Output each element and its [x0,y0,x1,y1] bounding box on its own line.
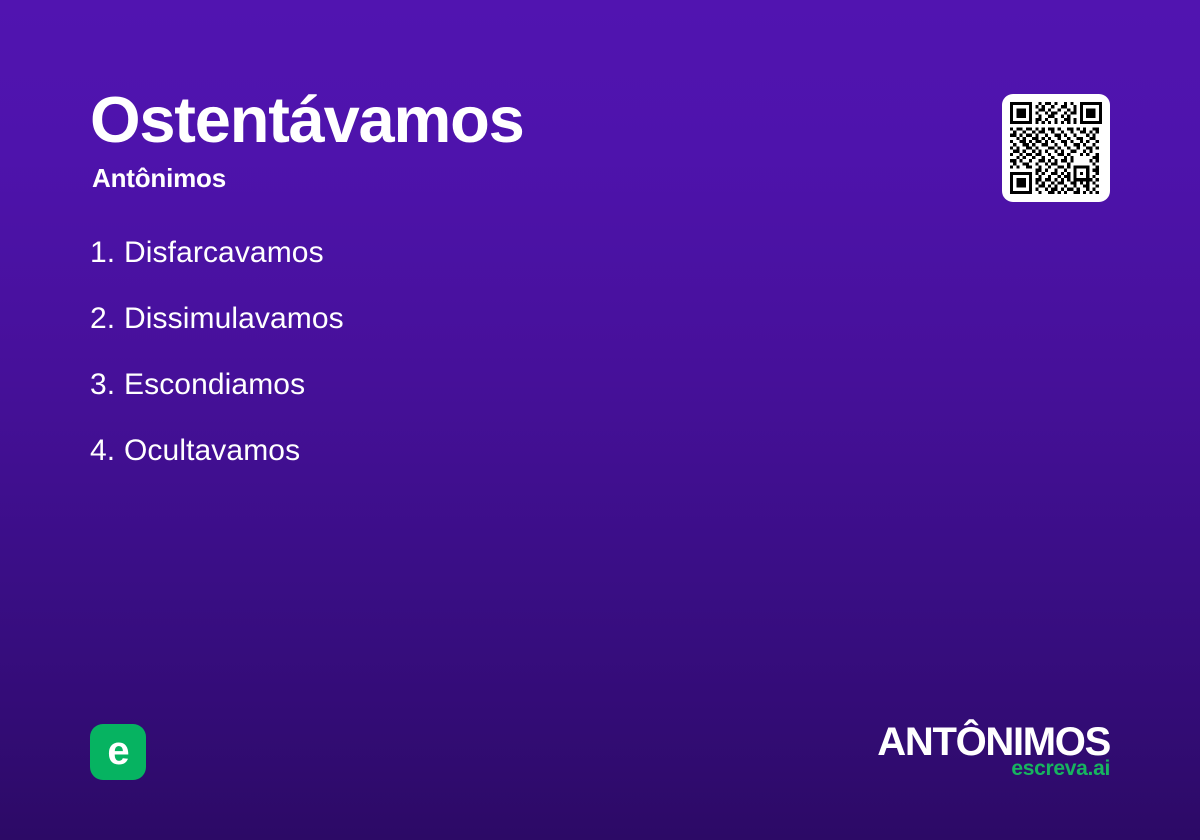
list-item: 4. Ocultavamos [90,434,910,500]
list-item-index: 1. [90,236,124,270]
qr-code-card[interactable] [1002,94,1110,202]
list-item-index: 2. [90,302,124,336]
escreva-e-logo-icon[interactable]: e [90,724,146,780]
qr-code-icon [1010,102,1102,194]
list-item-word: Dissimulavamos [124,302,344,336]
page-subtitle: Antônimos [92,163,950,194]
list-item-word: Escondiamos [124,368,305,402]
list-item: 1. Disfarcavamos [90,236,910,302]
antonyms-card: Ostentávamos Antônimos 1. Disfarcavamos … [0,0,1200,840]
headline-block: Ostentávamos Antônimos [90,86,950,194]
brand-lockup[interactable]: ANTÔNIMOS escreva.ai [877,722,1110,779]
brand-lockup-title: ANTÔNIMOS [877,722,1110,762]
page-title: Ostentávamos [90,86,950,155]
list-item-index: 4. [90,434,124,468]
list-item-word: Disfarcavamos [124,236,324,270]
list-item-index: 3. [90,368,124,402]
list-item-word: Ocultavamos [124,434,300,468]
antonyms-list: 1. Disfarcavamos 2. Dissimulavamos 3. Es… [90,236,910,500]
brand-mark-letter: e [107,731,128,771]
list-item: 2. Dissimulavamos [90,302,910,368]
list-item: 3. Escondiamos [90,368,910,434]
